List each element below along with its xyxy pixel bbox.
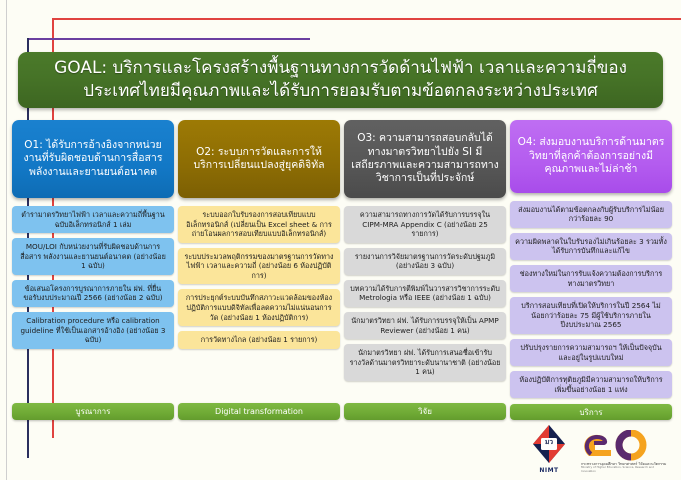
key-result-item[interactable]: ความผิดพลาดในใบรับรองไม่เกินร้อยละ 3 รวม…: [510, 233, 672, 260]
key-result-list-o3: ความสามารถทางการวัดได้รับการบรรจุใน CIPM…: [344, 206, 506, 397]
ministry-logo: กระทรวงการอุดมศึกษา วิทยาศาสตร์ วิจัยและ…: [581, 424, 667, 474]
objective-column-o4: O4: ส่งมอบงานบริการด้านมาตรวิทยาที่ลูกค้…: [510, 120, 672, 420]
objective-column-o1: O1: ได้รับการอ้างอิงจากหน่วยงานที่รับผิด…: [12, 120, 174, 420]
ministry-mark-icon: [581, 430, 667, 462]
nimt-mark-text: มว: [525, 437, 573, 447]
logo-bar: มว NIMT กระทรวงการอุดมศึกษา วิทยาศาสตร์ …: [525, 420, 667, 474]
objective-header-o2[interactable]: O2: ระบบการวัดและการให้บริการเปลี่ยนแปลง…: [178, 120, 340, 198]
key-result-item[interactable]: นักมาตรวิทยา ฝฟ. ได้รับการเสนอชื่อเข้ารั…: [344, 344, 506, 381]
key-result-item[interactable]: ส่งมอบงานได้ตามข้อตกลงกับผู้รับบริการไม่…: [510, 201, 672, 228]
objective-columns: O1: ได้รับการอ้างอิงจากหน่วยงานที่รับผิด…: [12, 120, 672, 420]
objective-header-o1[interactable]: O1: ได้รับการอ้างอิงจากหน่วยงานที่รับผิด…: [12, 120, 174, 198]
nimt-label: NIMT: [525, 467, 573, 474]
key-result-item[interactable]: ตำรามาตรวิทยาไฟฟ้า เวลาและความถี่พื้นฐาน…: [12, 206, 174, 233]
key-result-item[interactable]: การวัดทางไกล (อย่างน้อย 1 รายการ): [178, 331, 340, 349]
key-result-list-o1: ตำรามาตรวิทยาไฟฟ้า เวลาและความถี่พื้นฐาน…: [12, 206, 174, 397]
key-result-item[interactable]: ห้องปฏิบัติการทุติยภูมิมีความสามารถให้บร…: [510, 371, 672, 398]
objective-footer-o4: บริการ: [510, 404, 672, 420]
objective-column-o3: O3: ความสามารถสอบกลับได้ทางมาตรวิทยาไปยั…: [344, 120, 506, 420]
key-result-item[interactable]: Calibration procedure หรือ calibration g…: [12, 312, 174, 349]
key-result-item[interactable]: ระบบประมวลพฤติกรรมของมาตรฐานการวัดทางไฟฟ…: [178, 248, 340, 285]
key-result-item[interactable]: ความสามารถทางการวัดได้รับการบรรจุใน CIPM…: [344, 206, 506, 243]
objective-column-o2: O2: ระบบการวัดและการให้บริการเปลี่ยนแปลง…: [178, 120, 340, 420]
key-result-item[interactable]: ระบบออกใบรับรองการสอบเทียบแบบอิเล็กทรอนิ…: [178, 206, 340, 243]
objective-header-o4[interactable]: O4: ส่งมอบงานบริการด้านมาตรวิทยาที่ลูกค้…: [510, 120, 672, 193]
key-result-item[interactable]: การประยุกต์ระบบบันทึกสภาวะแวดล้อมของห้อง…: [178, 289, 340, 326]
key-result-item[interactable]: รายงานการวิจัยมาตรฐานการวัดระดับปฐมภูมิ …: [344, 248, 506, 275]
key-result-item[interactable]: ข้อเสนอโครงการบูรณาการภายใน ฝฟ. ที่ยื่นข…: [12, 280, 174, 307]
key-result-item[interactable]: MOU/LOI กับหน่วยงานที่รับผิดชอบด้านการสื…: [12, 238, 174, 275]
key-result-item[interactable]: ช่องทางใหม่ในการรับแจ้งความต้องการบริการ…: [510, 265, 672, 292]
frame-line-grey: [6, 0, 7, 480]
key-result-item[interactable]: บริการสอบเทียบที่เปิดให้บริการในปี 2564 …: [510, 297, 672, 334]
frame-line-red-top: [52, 18, 681, 20]
key-result-item[interactable]: บทความได้รับการตีพิมพ์ในวารสารวิชาการระด…: [344, 280, 506, 307]
frame-line-purple-top: [27, 38, 310, 40]
key-result-item[interactable]: ปรับปรุงรายการความสามารถฯ ให้เป็นปัจจุบั…: [510, 339, 672, 366]
key-result-item[interactable]: นักมาตรวิทยา ฝฟ. ได้รับการบรรจุให้เป็น A…: [344, 312, 506, 339]
ministry-name-en: Ministry of Higher Education, Science, R…: [581, 466, 667, 474]
objective-footer-o1: บูรณาการ: [12, 403, 174, 420]
goal-banner: GOAL: บริการและโครงสร้างพื้นฐานทางการวัด…: [18, 52, 663, 108]
objective-header-o3[interactable]: O3: ความสามารถสอบกลับได้ทางมาตรวิทยาไปยั…: [344, 120, 506, 198]
key-result-list-o4: ส่งมอบงานได้ตามข้อตกลงกับผู้รับบริการไม่…: [510, 201, 672, 399]
objective-footer-o3: วิจัย: [344, 403, 506, 420]
nimt-logo: มว NIMT: [525, 424, 573, 474]
objective-footer-o2: Digital transformation: [178, 403, 340, 420]
key-result-list-o2: ระบบออกใบรับรองการสอบเทียบแบบอิเล็กทรอนิ…: [178, 206, 340, 397]
goal-text: GOAL: บริการและโครงสร้างพื้นฐานทางการวัด…: [30, 57, 651, 103]
